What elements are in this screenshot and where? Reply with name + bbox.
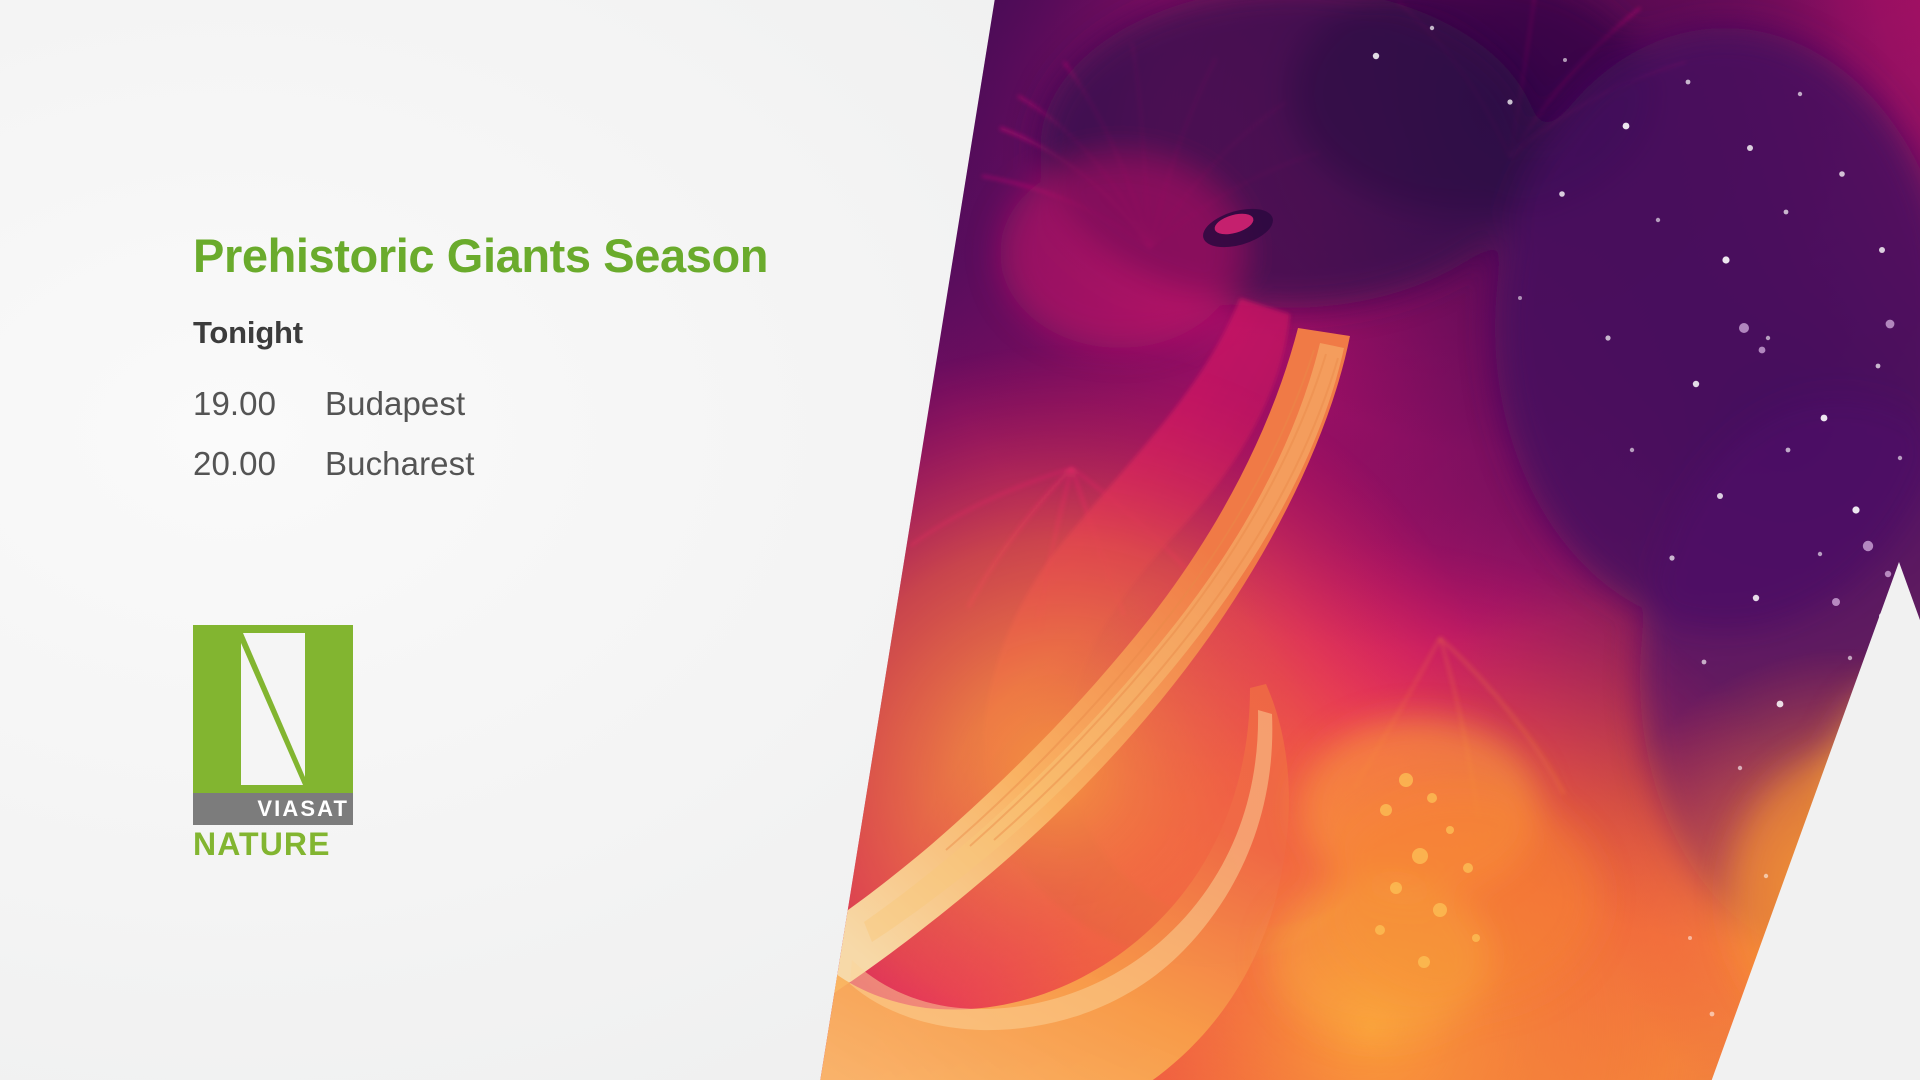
- mammoth-artwork: [820, 0, 1920, 1080]
- viasat-nature-logo: VIASAT NATURE: [193, 625, 353, 862]
- logo-monogram-n-glyph: [193, 625, 353, 793]
- promo-content: Prehistoric Giants Season Tonight 19.00 …: [193, 0, 893, 1080]
- promo-screen: Prehistoric Giants Season Tonight 19.00 …: [0, 0, 1920, 1080]
- page-title: Prehistoric Giants Season: [193, 228, 768, 283]
- artwork-clipped-group: [820, 0, 1920, 1080]
- logo-monogram-n: [193, 625, 353, 793]
- schedule-city: Bucharest: [325, 445, 474, 483]
- promo-subtitle: Tonight: [193, 315, 303, 351]
- list-item: 20.00 Bucharest: [193, 445, 474, 505]
- logo-viasat-bar: VIASAT: [193, 793, 353, 825]
- schedule-city: Budapest: [325, 385, 465, 423]
- mammoth-artwork-svg: [820, 0, 1920, 1080]
- logo-nature-text: NATURE: [193, 828, 353, 862]
- schedule-time: 19.00: [193, 385, 325, 423]
- schedule-list: 19.00 Budapest 20.00 Bucharest: [193, 385, 474, 505]
- logo-viasat-text: VIASAT: [257, 796, 349, 822]
- schedule-time: 20.00: [193, 445, 325, 483]
- list-item: 19.00 Budapest: [193, 385, 474, 445]
